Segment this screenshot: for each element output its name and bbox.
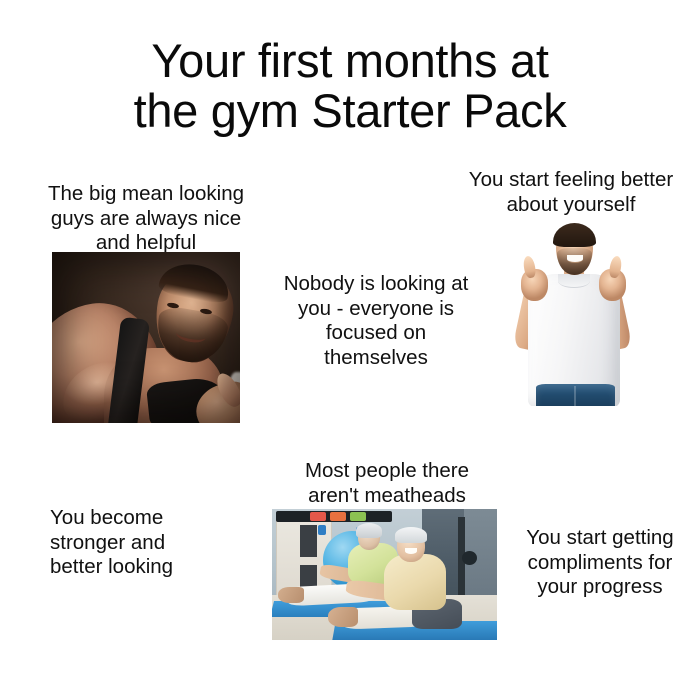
front-person-hair bbox=[395, 527, 427, 543]
smile-shape bbox=[567, 255, 583, 263]
back-person-feet bbox=[278, 587, 304, 603]
caption-feeling-better: You start feeling better about yourself bbox=[443, 168, 699, 217]
caption-getting-compliments: You start getting compliments for your p… bbox=[500, 526, 700, 600]
wall-equipment-slot-top bbox=[300, 525, 317, 557]
weight-plate-orange bbox=[330, 512, 346, 521]
meme-canvas: Your first months at the gym Starter Pac… bbox=[0, 0, 700, 700]
right-eye bbox=[580, 244, 586, 247]
jeans-seam bbox=[574, 386, 576, 406]
front-person-torso bbox=[384, 554, 446, 610]
weight-plate-red bbox=[310, 512, 326, 521]
caption-not-meatheads: Most people there aren't meatheads bbox=[266, 459, 508, 508]
front-person-smile bbox=[405, 548, 417, 554]
page-title: Your first months at the gym Starter Pac… bbox=[0, 36, 700, 137]
weight-plate-green bbox=[350, 512, 366, 521]
hair-shape bbox=[553, 223, 596, 247]
photo-seniors-stretching bbox=[272, 509, 497, 640]
front-person-feet bbox=[328, 607, 358, 627]
photo-man-double-thumbs-up bbox=[500, 218, 646, 406]
shirt-collar bbox=[558, 274, 590, 288]
caption-nobody-looking: Nobody is looking at you - everyone is f… bbox=[262, 272, 490, 370]
left-eye bbox=[562, 244, 568, 247]
photo-muscular-man-thumbs-up bbox=[52, 252, 240, 423]
back-person-hair bbox=[356, 523, 382, 538]
caption-become-stronger: You become stronger and better looking bbox=[50, 506, 260, 580]
caption-big-mean-guys: The big mean looking guys are always nic… bbox=[22, 182, 270, 256]
kettlebell bbox=[462, 551, 477, 565]
wall-clip-left bbox=[318, 525, 326, 535]
